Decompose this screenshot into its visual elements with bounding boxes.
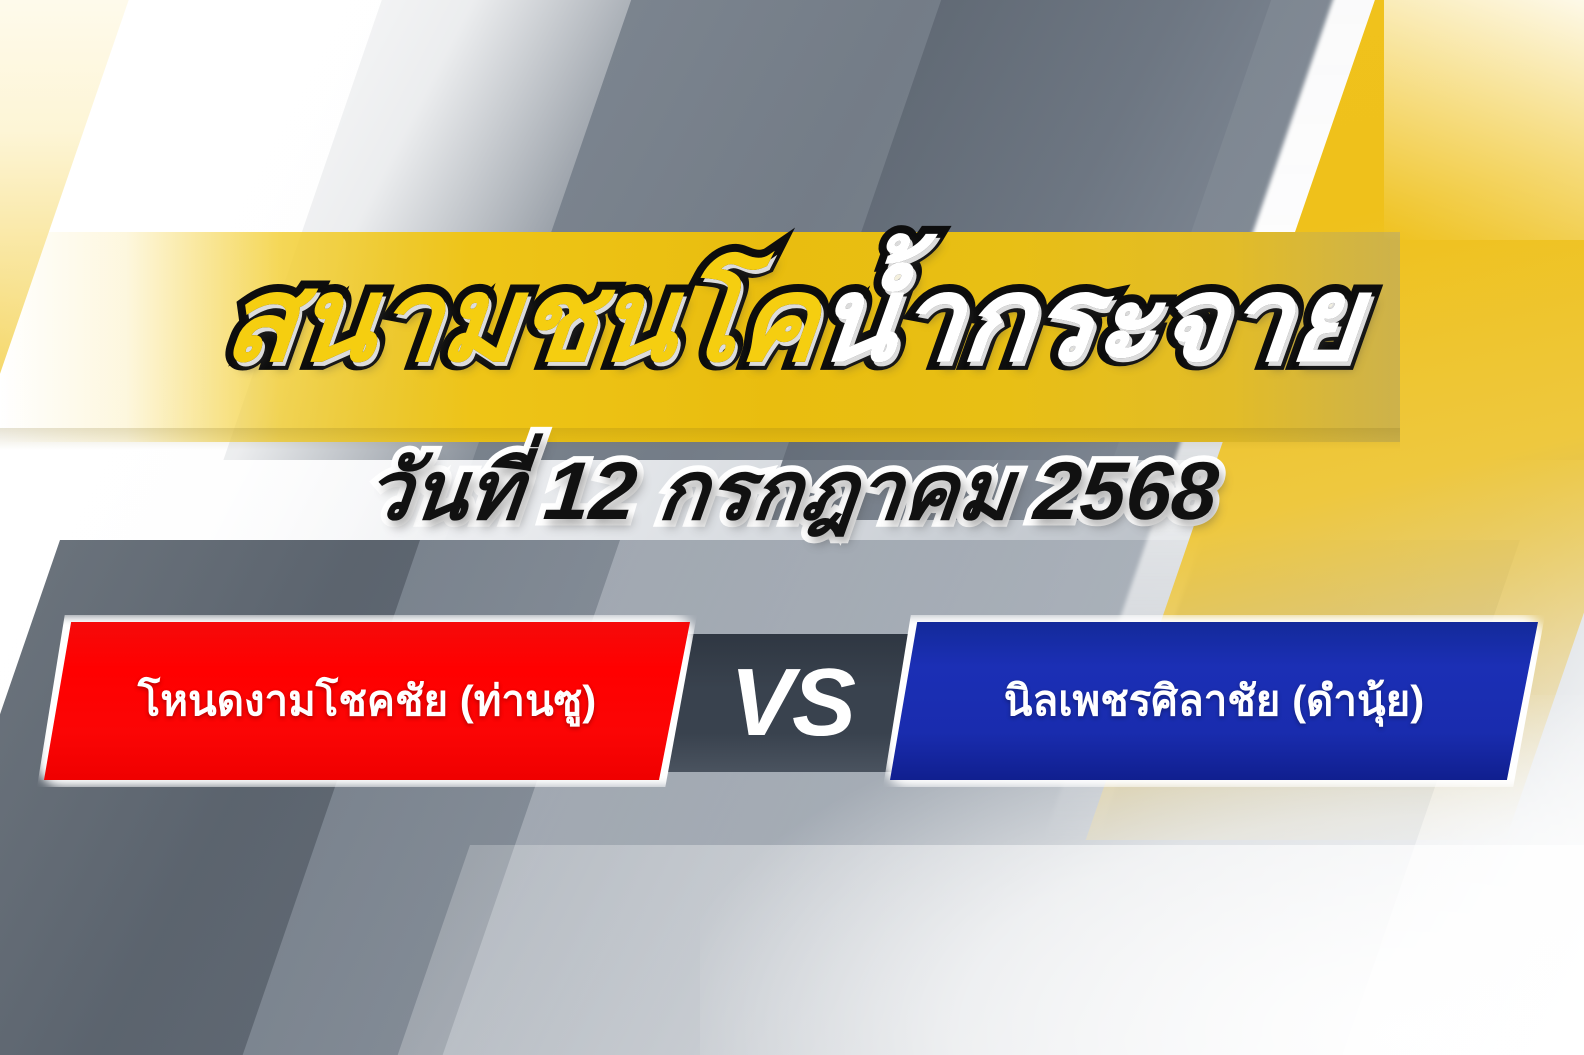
- team-banner-red[interactable]: โหนดงามโชคชัย (ท่านซู): [44, 622, 690, 780]
- versus-label: VS: [700, 634, 884, 772]
- team-banner-blue[interactable]: นิลเพชรศิลาชัย (ดำนุ้ย): [890, 622, 1538, 780]
- red-team-name: โหนดงามโชคชัย (ท่านซู): [138, 680, 596, 722]
- background-topright-shade: [1384, 0, 1584, 240]
- blue-team-name: นิลเพชรศิลาชัย (ดำนุ้ย): [1004, 680, 1424, 722]
- title-part-name: น้ำกระจาย: [810, 254, 1367, 386]
- event-date: วันที่ 12 กรกฎาคม 2568: [362, 448, 1223, 537]
- poster-title: สนามชนโคน้ำกระจาย: [218, 258, 1366, 383]
- title-part-venue: สนามชนโค: [218, 254, 824, 386]
- match-poster: สนามชนโคน้ำกระจาย วันที่ 12 กรกฎาคม 2568…: [0, 0, 1584, 1055]
- headline-container: สนามชนโคน้ำกระจาย: [0, 258, 1584, 383]
- date-container: วันที่ 12 กรกฎาคม 2568: [0, 448, 1584, 537]
